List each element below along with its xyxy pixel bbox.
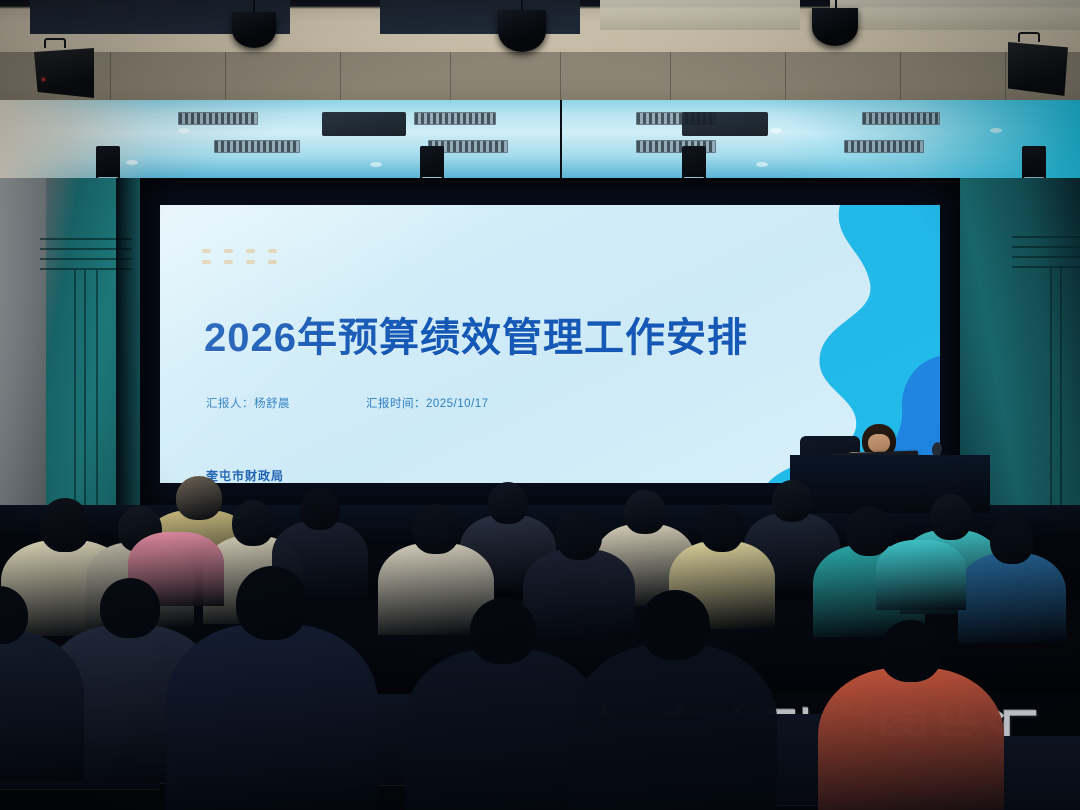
air-vent [862, 112, 940, 125]
auditorium-photo: 2026年预算绩效管理工作安排 汇报人：杨舒晨 汇报时间：2025/10/17 … [0, 0, 1080, 810]
presenter-face [868, 434, 890, 453]
audience-head [470, 598, 536, 664]
wall-groove [1012, 266, 1080, 268]
audience-head [488, 482, 528, 524]
ceiling-dark-panel [682, 112, 768, 136]
audience-head [624, 490, 666, 534]
hanging-spotlight [96, 146, 120, 180]
wall-speaker-left [34, 48, 94, 98]
ceiling-light-dot [770, 128, 782, 133]
audience-head [556, 510, 602, 560]
audience-area [0, 470, 1080, 810]
ceiling-spotlight [812, 8, 858, 46]
audience-shoulders [523, 549, 635, 639]
left-wall-pillar [0, 178, 46, 513]
slide-dot [246, 249, 255, 253]
speaker-led [42, 78, 45, 81]
speaker-bracket [44, 38, 66, 48]
audience-head [176, 476, 222, 520]
speaker-bracket [1018, 32, 1040, 42]
slide-time: 汇报时间：2025/10/17 [366, 395, 489, 411]
hanging-spotlight [420, 146, 444, 180]
slide-dot [224, 249, 233, 253]
slide-dot [268, 249, 277, 253]
audience-shoulders [166, 624, 378, 810]
audience-shoulders [573, 645, 777, 810]
audience-head [990, 516, 1034, 564]
slide-dot [202, 260, 211, 264]
ceiling-spotlight [498, 10, 546, 52]
slide-dot [268, 260, 277, 264]
air-vent [844, 140, 924, 153]
air-vent [214, 140, 300, 153]
cable [560, 100, 562, 178]
ceiling-skylight-mid [600, 0, 800, 30]
wall-groove [1012, 236, 1080, 238]
hanging-spotlight [682, 146, 706, 180]
audience-head [100, 578, 160, 638]
audience-head [772, 480, 812, 522]
audience-head [236, 566, 308, 640]
ceiling-light-dot [370, 162, 382, 167]
slide-dot [224, 260, 233, 264]
slide-dot [246, 260, 255, 264]
audience-head [880, 620, 942, 682]
ceiling-light-dot [990, 128, 1002, 133]
slide-dot-grid [202, 249, 290, 271]
ceiling-skylight-right [830, 0, 1080, 30]
audience-shoulders [818, 668, 1004, 810]
audience-colored-jacket [876, 540, 966, 610]
soffit-left-shade [0, 100, 150, 178]
ceiling-dark-strip-mid [380, 0, 580, 34]
air-vent [178, 112, 258, 125]
wall-speaker-right [1008, 42, 1068, 96]
air-vent [414, 112, 496, 125]
wall-groove [1012, 246, 1080, 248]
ceiling-dark-panel [322, 112, 406, 136]
hanging-spotlight [1022, 146, 1046, 180]
audience-head [930, 494, 972, 540]
audience-head [40, 498, 90, 552]
slide-reporter: 汇报人：杨舒晨 [206, 395, 290, 411]
ceiling-light-dot [126, 160, 138, 165]
audience-head [412, 504, 460, 554]
ceiling-spotlight [232, 12, 276, 48]
audience-shoulders [958, 553, 1066, 643]
audience-shoulders [405, 649, 601, 810]
audience-head [232, 500, 274, 546]
audience-head [700, 504, 744, 552]
audience-head [300, 488, 340, 530]
ceiling-light-dot [178, 128, 190, 133]
slide-title: 2026年预算绩效管理工作安排 [204, 305, 748, 363]
ceiling-light-dot [756, 162, 768, 167]
slide-dot [202, 249, 211, 253]
slide-meta-row: 汇报人：杨舒晨 汇报时间：2025/10/17 [206, 395, 489, 411]
wall-groove [1012, 256, 1080, 258]
audience-head [640, 590, 710, 660]
